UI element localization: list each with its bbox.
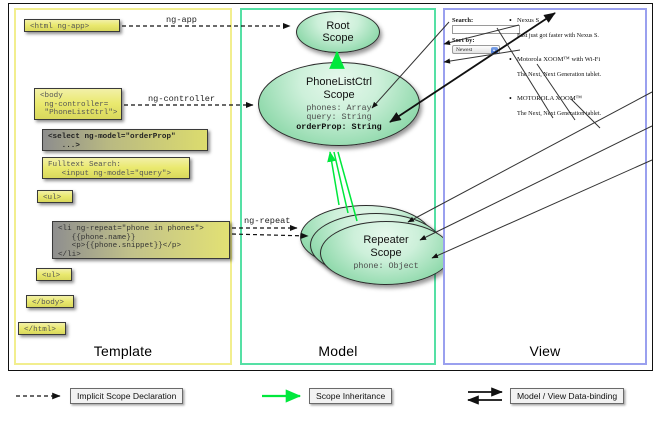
phone-snippet-2: The Next, Next Generation tablet. — [517, 110, 601, 117]
search-input[interactable] — [452, 25, 520, 34]
scope-prop-orderprop: orderProp: String — [296, 122, 381, 132]
scope-phonelistctrl-title-2: Scope — [323, 89, 354, 101]
code-box-body-close: </body> — [26, 295, 74, 308]
phone-name-1: Motorola XOOM™ with Wi-Fi — [517, 56, 600, 63]
sort-by-selected-value: Newest — [456, 47, 472, 53]
panel-label-view: View — [445, 343, 645, 359]
panel-template: Template — [14, 8, 232, 365]
scope-repeater: Repeater Scope phone: Object — [320, 221, 452, 285]
panel-label-template: Template — [16, 343, 230, 359]
legend-item-model-view-data-binding: Model / View Data-binding — [510, 388, 624, 404]
sort-by-select[interactable]: Newest — [452, 45, 500, 54]
diagram-canvas: Template <html ng-app> <body ng-controll… — [0, 0, 661, 425]
code-box-ul-open: <ul> — [37, 190, 73, 203]
scope-repeater-title-1: Repeater — [363, 234, 408, 246]
scope-prop-phone: phone: Object — [353, 262, 418, 271]
phone-name-0: Nexus S — [517, 17, 539, 24]
legend-item-implicit-scope-declaration: Implicit Scope Declaration — [70, 388, 183, 404]
view-browser-mock: Search: Sort by: Newest Nexus S Fast jus… — [447, 12, 643, 342]
code-box-html-close: </html> — [18, 322, 66, 335]
phone-snippet-1: The Next, Next Generation tablet. — [517, 71, 601, 78]
code-box-body-open: <body ng-controller= "PhoneListCtrl"> — [34, 88, 122, 120]
scope-root-title-2: Scope — [322, 32, 353, 44]
panel-label-model: Model — [242, 343, 434, 359]
scope-phonelistctrl: PhoneListCtrl Scope phones: Array query:… — [258, 62, 420, 146]
sort-by-label: Sort by: — [452, 37, 475, 44]
code-box-select: <select ng-model="orderProp" ...> — [42, 129, 208, 151]
code-box-ul-close: <ul> — [36, 268, 72, 281]
arrow-label-ng-app: ng-app — [166, 15, 197, 25]
code-box-html-open: <html ng-app> — [24, 19, 120, 32]
search-label: Search: — [452, 17, 473, 24]
arrow-label-ng-controller: ng-controller — [148, 94, 215, 104]
scope-root: Root Scope — [296, 11, 380, 53]
scope-repeater-title-2: Scope — [370, 247, 401, 259]
legend-item-scope-inheritance: Scope Inheritance — [309, 388, 392, 404]
phone-name-2: MOTOROLA XOOM™ — [517, 95, 582, 102]
scope-phonelistctrl-title-1: PhoneListCtrl — [306, 76, 372, 88]
scope-root-title-1: Root — [326, 20, 349, 32]
chevron-down-icon — [491, 47, 498, 54]
code-box-fulltext-search: Fulltext Search: <input ng-model="query"… — [42, 157, 190, 179]
legend: Implicit Scope Declaration Scope Inherit… — [8, 383, 653, 417]
code-box-li-repeat: <li ng-repeat="phone in phones"> {{phone… — [52, 221, 230, 259]
phone-snippet-0: Fast just got faster with Nexus S. — [517, 32, 599, 39]
arrow-label-ng-repeat: ng-repeat — [244, 216, 290, 226]
